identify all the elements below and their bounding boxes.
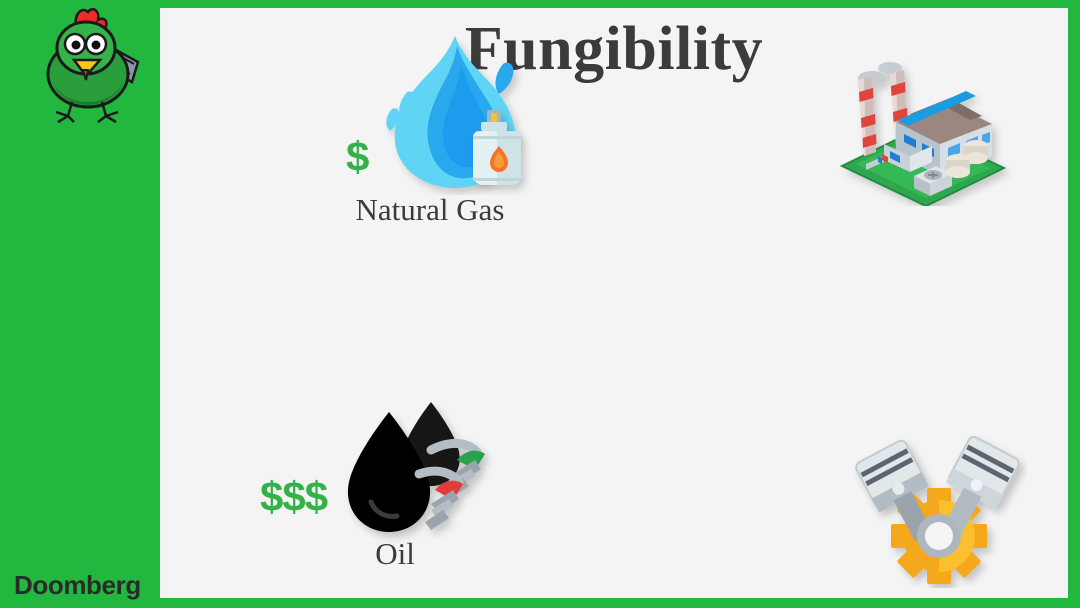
slide-root: Fungibility $ bbox=[0, 0, 1080, 608]
engine-destination bbox=[852, 433, 1027, 588]
oil-item: $$$ bbox=[205, 398, 585, 578]
factory-destination bbox=[832, 56, 1012, 206]
oil-price-tag: $$$ bbox=[260, 476, 327, 518]
oil-drop-fuel-nozzle-icon bbox=[335, 398, 495, 543]
doomberg-chicken-icon bbox=[30, 4, 150, 124]
factory-power-plant-icon bbox=[832, 56, 1012, 206]
piston-engine-gear-icon bbox=[852, 433, 1027, 588]
slide-canvas: Fungibility $ bbox=[160, 8, 1068, 598]
natural-gas-item: $ bbox=[250, 26, 590, 226]
natural-gas-label: Natural Gas bbox=[280, 194, 580, 225]
natural-gas-price-tag: $ bbox=[346, 136, 368, 178]
brand-sidebar: Doomberg bbox=[0, 0, 160, 608]
oil-label: Oil bbox=[295, 538, 495, 569]
brand-wordmark: Doomberg bbox=[14, 572, 141, 598]
natural-gas-flame-icon bbox=[375, 30, 535, 195]
